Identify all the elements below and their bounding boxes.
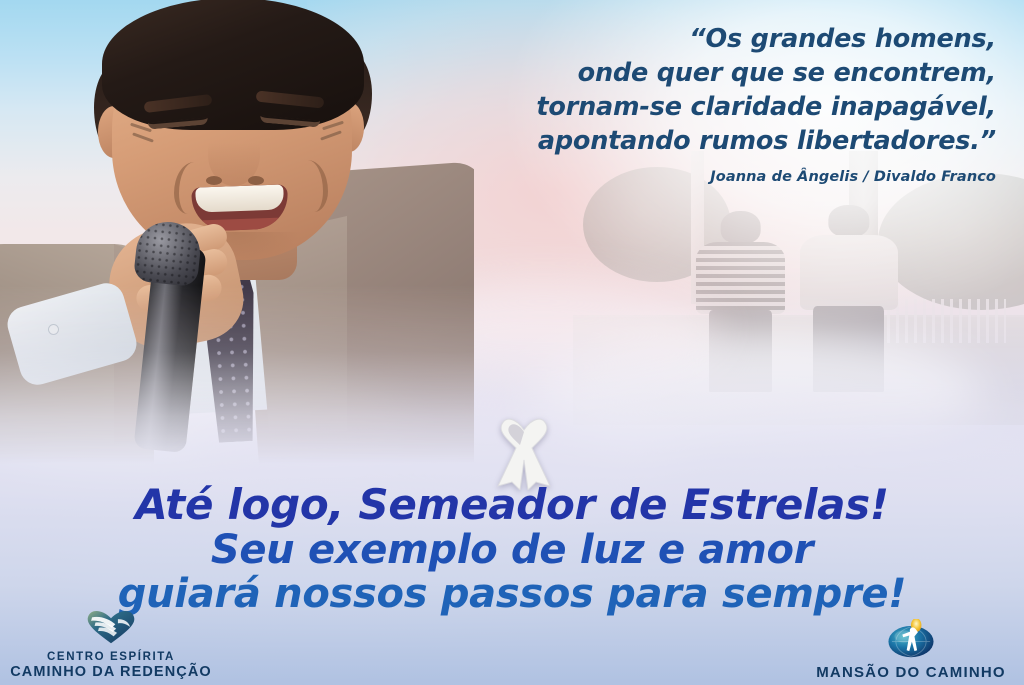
quote-attribution: Joanna de Ângelis / Divaldo Franco: [436, 169, 996, 185]
logo-left-line-1: CENTRO ESPÍRITA: [10, 650, 212, 664]
headline-line-2: Seu exemplo de luz e amor: [0, 528, 1024, 572]
teeth: [195, 184, 284, 212]
hair: [102, 0, 364, 130]
quote-line-1: “Os grandes homens,: [436, 22, 996, 56]
logo-right-text: MANSÃO DO CAMINHO: [816, 664, 1006, 681]
heart-hands-icon: [83, 607, 139, 650]
logo-left-text: CENTRO ESPÍRITA CAMINHO DA REDENÇÃO: [10, 650, 212, 681]
headline-block: Até logo, Semeador de Estrelas! Seu exem…: [0, 482, 1024, 616]
mourning-ribbon-icon: [486, 408, 562, 490]
cuff-button: [48, 324, 59, 335]
quote-line-2: onde quer que se encontrem,: [436, 56, 996, 90]
logo-centro-espirita[interactable]: CENTRO ESPÍRITA CAMINHO DA REDENÇÃO: [6, 607, 216, 681]
nostril-left: [206, 176, 222, 185]
quote-line-3: tornam-se claridade inapagável,: [436, 90, 996, 124]
quote-block: “Os grandes homens, onde quer que se enc…: [436, 22, 996, 185]
portrait-fade-mask: [0, 0, 474, 464]
memorial-poster: “Os grandes homens, onde quer que se enc…: [0, 0, 1024, 685]
headline-line-1: Até logo, Semeador de Estrelas!: [0, 482, 1024, 528]
nostril-right: [248, 176, 264, 185]
logo-right-line-2: MANSÃO DO CAMINHO: [816, 664, 1006, 681]
quote-line-4: apontando rumos libertadores.”: [436, 124, 996, 158]
logo-left-line-2: CAMINHO DA REDENÇÃO: [10, 664, 212, 681]
portrait-divaldo-franco: [0, 0, 474, 464]
globe-torch-figure-icon: [885, 619, 937, 664]
logo-mansao-do-caminho[interactable]: MANSÃO DO CAMINHO: [806, 619, 1016, 681]
